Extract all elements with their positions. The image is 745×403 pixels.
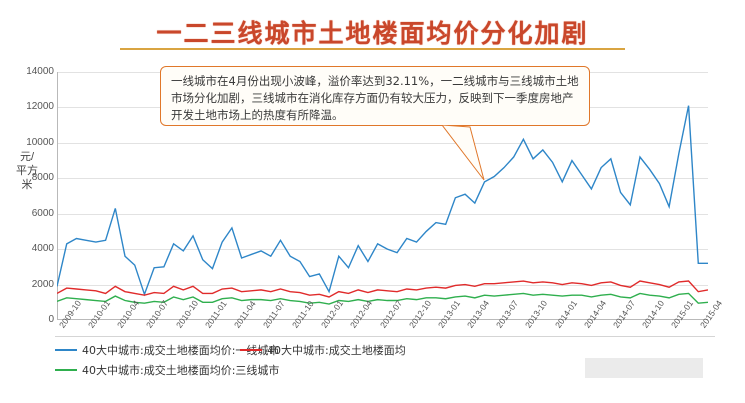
y-tick-label: 10000	[6, 137, 54, 148]
legend-item[interactable]: 40大中城市:成交土地楼面均价:三线城市	[55, 362, 279, 378]
title-underline	[120, 48, 625, 50]
y-tick-label: 2000	[6, 279, 54, 290]
y-tick-label: 14000	[6, 66, 54, 77]
y-tick-label: 0	[6, 314, 54, 325]
series-line	[57, 106, 708, 295]
legend-color-swatch	[55, 369, 77, 371]
callout-tail-icon	[440, 125, 500, 185]
y-tick-label: 6000	[6, 208, 54, 219]
y-tick-label: 4000	[6, 243, 54, 254]
legend-color-swatch	[55, 349, 77, 351]
series-line	[57, 293, 708, 304]
annotation-callout: 一线城市在4月份出现小波峰，溢价率达到32.11%，一二线城市与三线城市土地市场…	[160, 66, 590, 126]
legend-color-swatch	[240, 349, 262, 351]
y-axis-ticks: 02000400060008000100001200014000	[2, 72, 54, 320]
legend-label: 40大中城市:成交土地楼面均	[267, 342, 406, 358]
y-tick-label: 12000	[6, 101, 54, 112]
legend-separator	[55, 336, 715, 337]
page-title: 一二三线城市土地楼面均价分化加剧	[0, 14, 745, 50]
legend-redaction-box	[585, 358, 703, 378]
annotation-text: 一线城市在4月份出现小波峰，溢价率达到32.11%，一二线城市与三线城市土地市场…	[171, 74, 579, 122]
legend-label: 40大中城市:成交土地楼面均价:三线城市	[82, 362, 279, 378]
legend-item[interactable]: 40大中城市:成交土地楼面均	[240, 342, 406, 358]
y-tick-label: 8000	[6, 172, 54, 183]
